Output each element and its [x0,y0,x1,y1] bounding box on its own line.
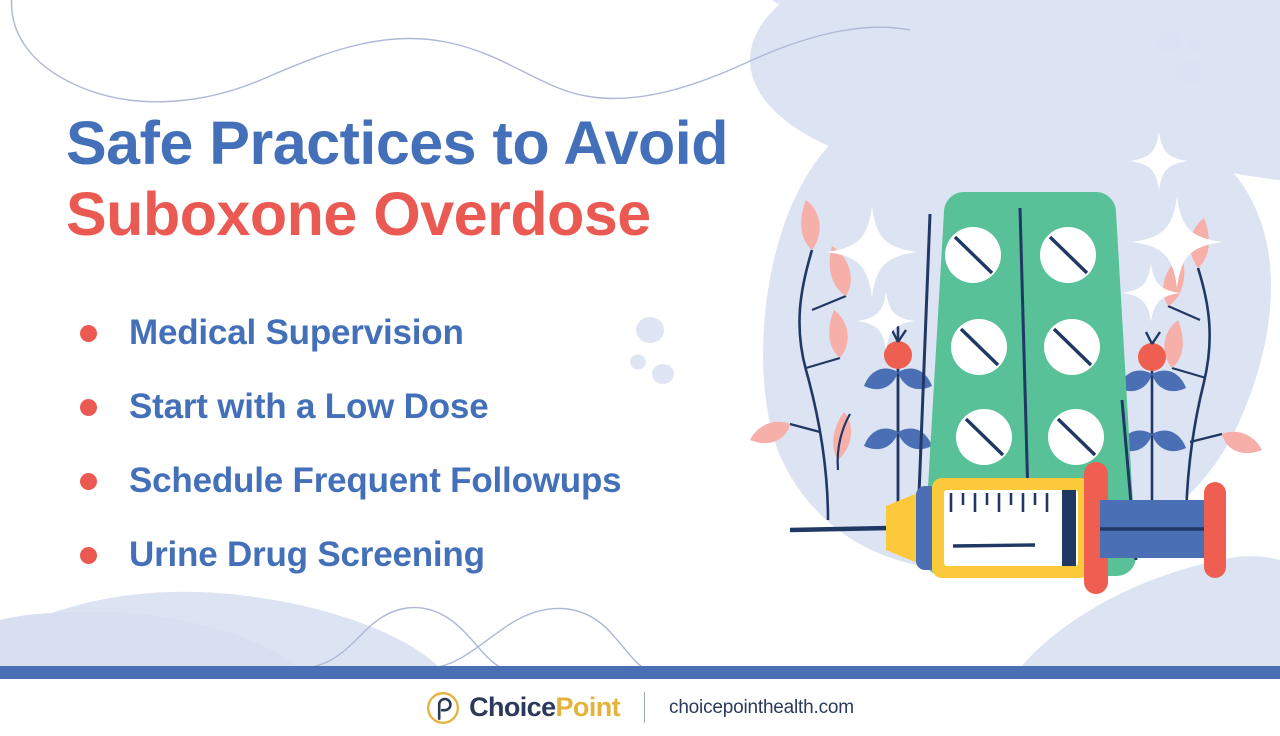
list-item-label: Urine Drug Screening [129,535,485,575]
brand-name: ChoicePoint [469,692,620,723]
bullet-dot-icon [80,473,97,490]
footer-accent-bar [0,666,1280,679]
syringe-fill-line [953,545,1035,546]
syringe-plunger-cap [1204,482,1226,578]
list-item: Start with a Low Dose [80,370,800,444]
brand-logo[interactable]: ChoicePoint [426,691,620,725]
syringe-needle [790,528,893,530]
flower-bud [884,341,912,369]
list-item-label: Medical Supervision [129,313,464,353]
bullet-dot-icon [80,547,97,564]
bullet-dot-icon [80,399,97,416]
page-title-line-1: Safe Practices to Avoid [66,108,766,179]
list-item-label: Schedule Frequent Followups [129,461,621,501]
footer: ChoicePoint choicepointhealth.com [0,679,1280,736]
decor-dot [1157,30,1181,52]
bullet-dot-icon [80,325,97,342]
leaf [1222,432,1262,453]
list-item-label: Start with a Low Dose [129,387,488,427]
brand-name-part1: Choice [469,692,555,722]
website-url[interactable]: choicepointhealth.com [669,697,854,719]
choicepoint-spiral-p-logo-icon [426,691,460,725]
page-title: Safe Practices to Avoid Suboxone Overdos… [66,108,766,251]
decor-dot [1189,39,1203,52]
decor-dot [1177,60,1203,84]
flower-bud [1138,343,1166,371]
list-item: Medical Supervision [80,296,800,370]
safe-practices-list: Medical Supervision Start with a Low Dos… [80,296,800,592]
brand-name-part2: Point [556,692,621,722]
list-item: Urine Drug Screening [80,518,800,592]
page-title-line-2: Suboxone Overdose [66,179,766,250]
footer-divider [644,692,645,723]
bottom-wave-outline-2 [430,608,644,668]
infographic-canvas: Safe Practices to Avoid Suboxone Overdos… [0,0,1280,736]
syringe-plunger-stop [1062,490,1076,566]
list-item: Schedule Frequent Followups [80,444,800,518]
